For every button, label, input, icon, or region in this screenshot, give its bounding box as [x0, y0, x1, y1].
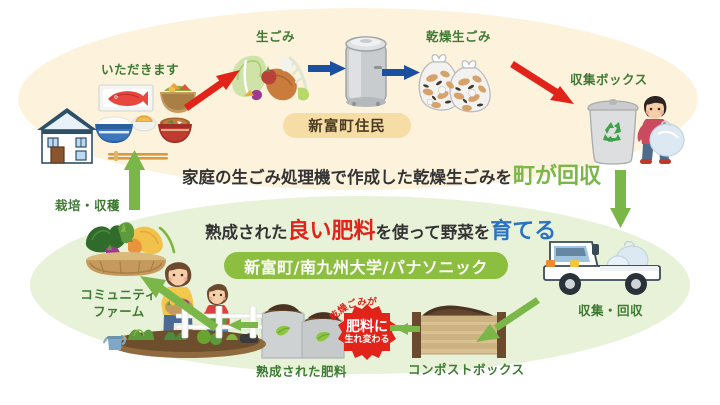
arrow-truck-to-compost: [470, 296, 542, 346]
arrow-home-to-scraps: [182, 68, 244, 114]
label-shuushuu-box: 収集ボックス: [570, 72, 648, 89]
arrow-processor-to-bags: [382, 64, 422, 82]
label-jukusei-hiryou: 熟成された肥料: [256, 364, 347, 381]
label-shuushuu-kaishuu: 収集・回収: [578, 303, 643, 320]
label-compost-box: コンポストボックス: [408, 362, 525, 379]
arrow-fertilizer-to-farm: [228, 318, 258, 332]
arrow-badge-to-compost: [390, 322, 412, 334]
label-saibai-shuukaku: 栽培・収穫: [55, 198, 120, 215]
headline-top: 家庭の生ごみ処理機で作成した乾燥生ごみを町が回収: [182, 158, 601, 190]
headline-bottom-part1: 熟成された: [205, 219, 288, 243]
fertilizer-rebirth-badge: 乾燥ごみが 肥料に 生れ変わる: [336, 296, 398, 358]
badge-line1: 肥料に: [346, 319, 388, 335]
label-namagomi: 生ごみ: [256, 29, 295, 46]
arrow-bags-to-bin: [508, 58, 580, 108]
pill-partners: 新富町/南九州大学/パナソニック: [224, 252, 508, 279]
headline-top-plain: 家庭の生ごみ処理機で作成した乾燥生ごみを: [182, 164, 512, 188]
pill-residents: 新富町住民: [283, 113, 411, 138]
headline-bottom-emphasis1: 良い肥料: [288, 213, 376, 245]
miso-soup-icon: [155, 112, 195, 146]
arrow-harvest-to-home: [124, 150, 146, 210]
watering-can-icon: [102, 330, 130, 354]
arrow-farm-to-harvest: [132, 266, 224, 336]
headline-bottom: 熟成された良い肥料を使って野菜を育てる: [205, 213, 556, 245]
infographic-canvas: いただきます 生ごみ 乾燥生ごみ 収集ボックス 新富町住民 家庭の生ごみ処理機で…: [0, 0, 720, 405]
label-itadakimasu: いただきます: [101, 62, 179, 79]
label-kansou-namagomi: 乾燥生ごみ: [426, 29, 491, 46]
arrow-scraps-to-processor: [308, 60, 348, 78]
badge-line2: 生れ変わる: [344, 335, 389, 345]
dried-waste-bags-icon: [412, 50, 502, 116]
collection-truck-icon: [540, 222, 670, 308]
rice-bowl-icon: [93, 112, 135, 146]
resident-person-icon: [634, 88, 686, 170]
headline-bottom-part2: を使って野菜を: [376, 219, 491, 243]
headline-top-emphasis: 町が回収: [513, 158, 601, 190]
house-icon: [34, 104, 100, 166]
arrow-bin-to-truck: [610, 170, 632, 230]
